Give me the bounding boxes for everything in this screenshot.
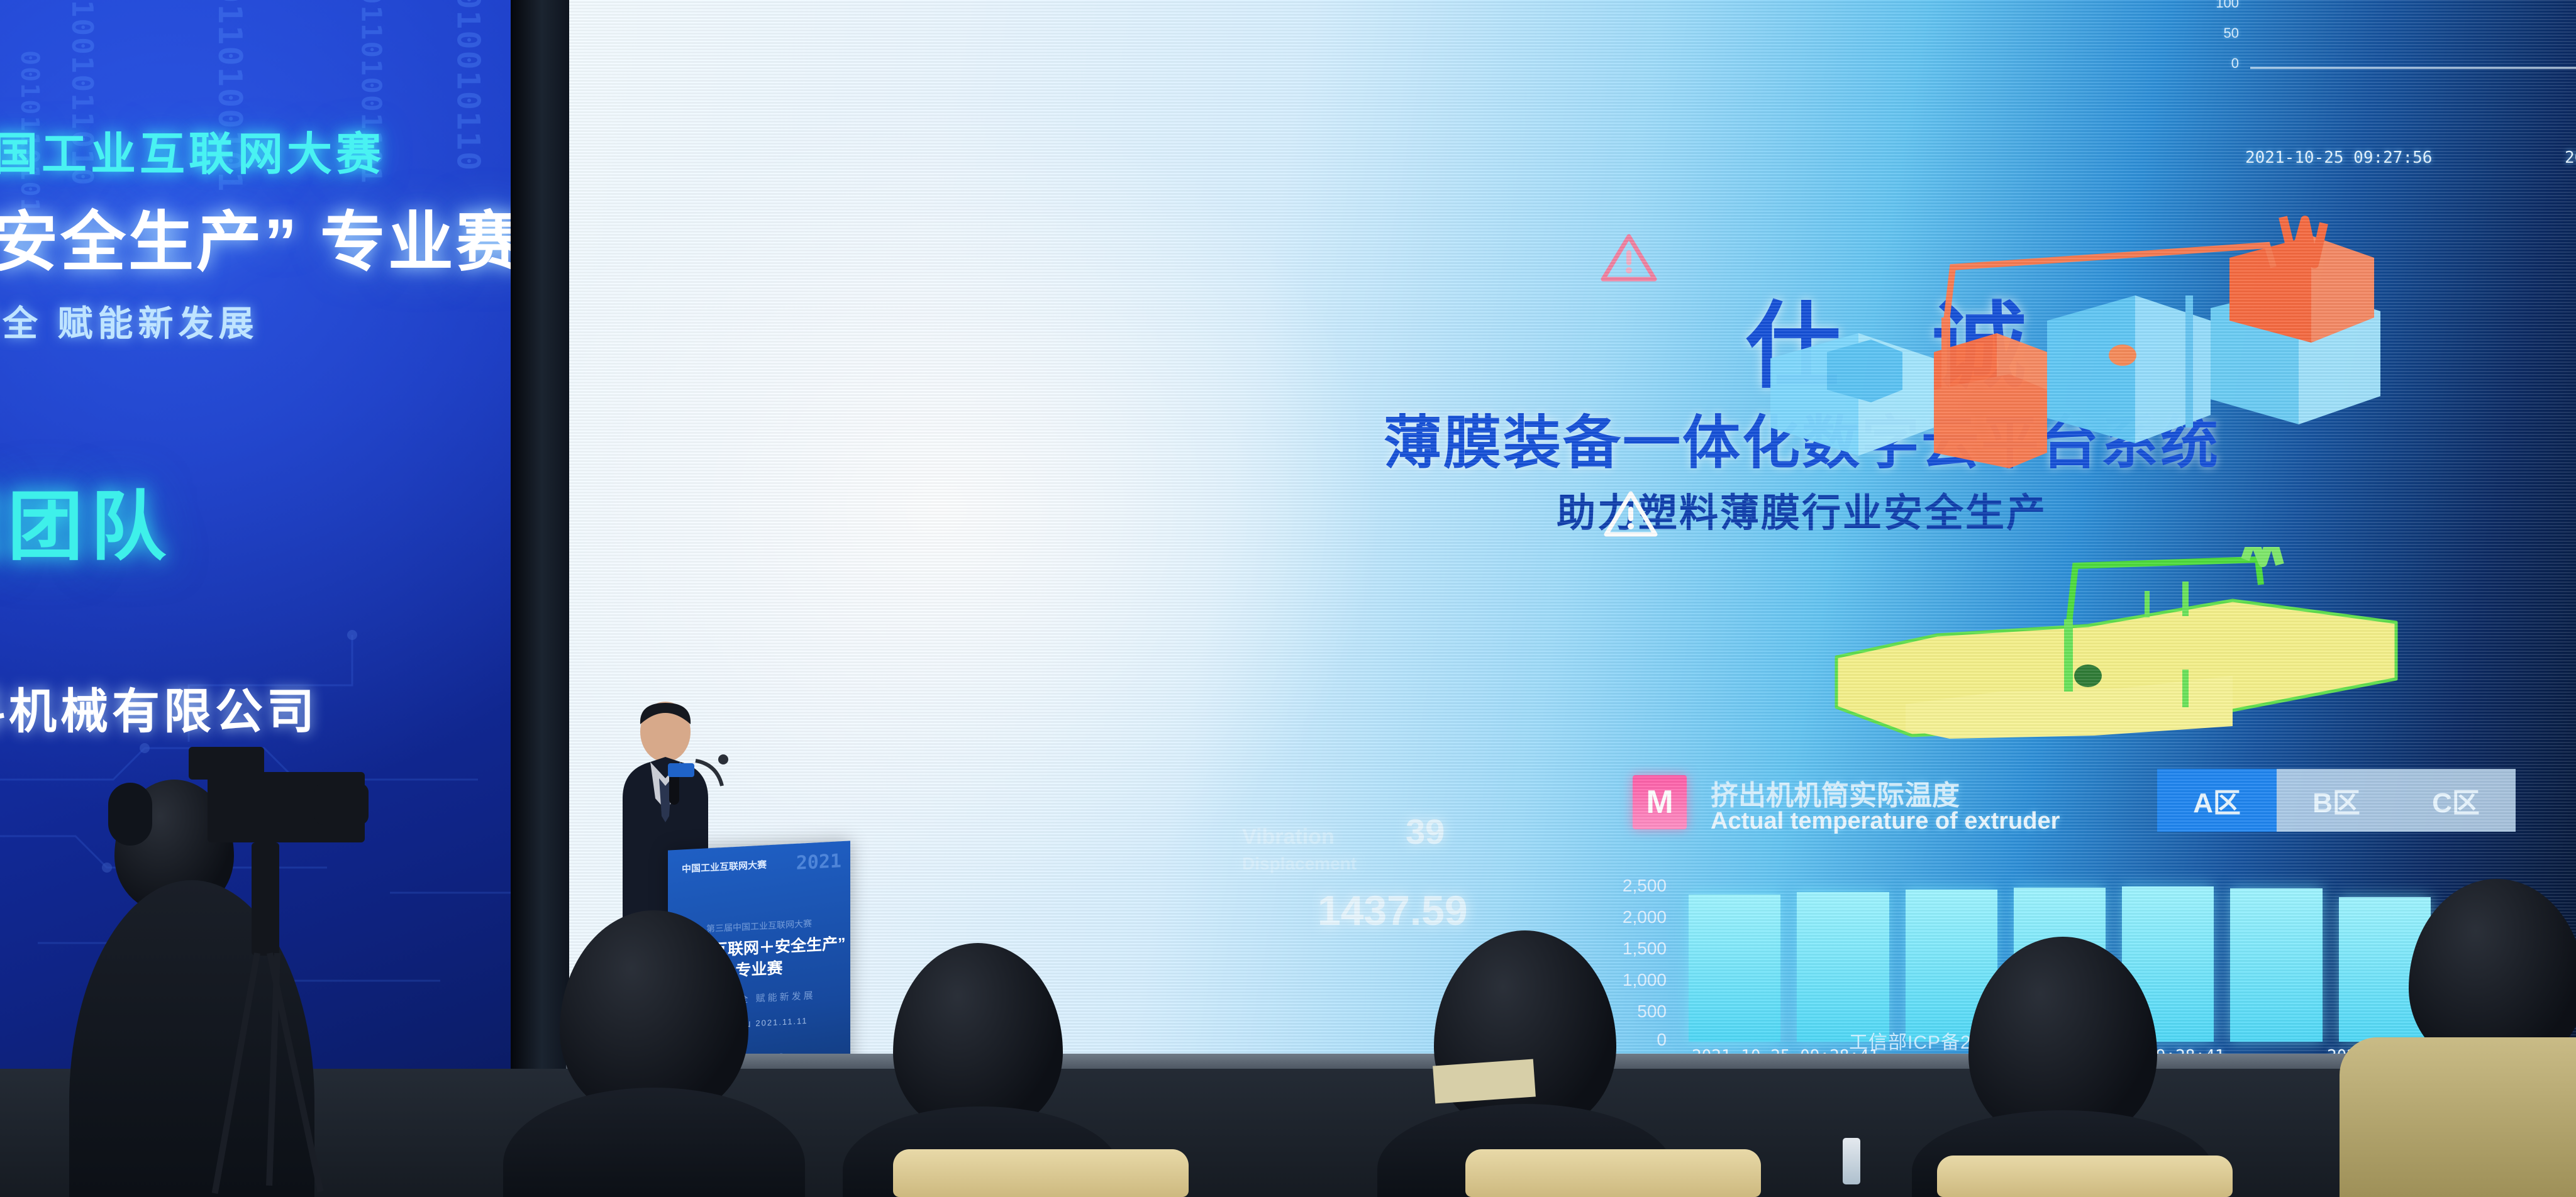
ghost-metric-displacement-value: 1437.59 (1318, 886, 1468, 934)
ghost-metric-vibration-label: Vibration (1242, 825, 1335, 849)
banner-company-name: 塑料机械有限公司 (0, 673, 566, 742)
headphone-icon (108, 783, 152, 846)
water-bottle (1843, 1138, 1860, 1184)
line-ytick-0: 0 (2201, 55, 2239, 72)
zone-tab-c[interactable]: C区 (2396, 769, 2516, 832)
zone-tab-a[interactable]: A区 (2157, 769, 2277, 832)
bar-ytick-2500: 2,500 (1597, 876, 1667, 896)
chair-back-1 (893, 1149, 1189, 1197)
extruder-line-3d-model (1745, 201, 2412, 490)
ghost-metric-displacement-label: Displacement (1242, 854, 1357, 874)
camera-viewfinder (189, 747, 264, 780)
banner-competition-title: 中国工业互联网大赛 (0, 117, 566, 183)
bar-ytick-1000: 1,000 (1597, 970, 1667, 990)
line-xtick-2: 2021-10-25 09:28:16 (2565, 148, 2576, 167)
camera-pan-head (252, 842, 279, 956)
banner-slogan: 安全 赋能新发展 (0, 295, 566, 346)
metric-badge: M (1633, 775, 1687, 829)
bar-6 (2230, 888, 2322, 1042)
left-led-banner: 01001011010 10110100101 01101001101 1101… (0, 0, 566, 1119)
podium-logo-text: 中国工业互联网大赛 (682, 858, 767, 875)
zone-tab-b[interactable]: B区 (2277, 769, 2396, 832)
projection-screen: 仕 诚 薄膜装备一体化数字云平台系统 助力塑料薄膜行业安全生产 39 1437.… (569, 0, 2576, 1056)
line-xtick-1: 2021-10-25 09:27:56 (2245, 148, 2432, 167)
ghost-metric-vibration-value: 39 (1406, 811, 1445, 852)
bar-1 (1689, 895, 1780, 1042)
camera-lens-hood (314, 783, 369, 825)
bar-2 (1797, 892, 1889, 1042)
bar-chart-title-en: Actual temperature of extruder (1711, 808, 2060, 835)
line-chart: 250 200 150 100 50 0 2021-10-25 09:27:56… (2176, 0, 2576, 163)
chair-back-3 (1937, 1156, 2233, 1197)
line-ytick-50: 50 (2201, 25, 2239, 41)
bar-ytick-1500: 1,500 (1597, 939, 1667, 959)
paper-sheet (1433, 1059, 1536, 1103)
podium-year: 2021 (796, 850, 841, 874)
line-ytick-100: 100 (2201, 0, 2239, 11)
bar-chart-title-zh: 挤出机机筒实际温度 (1711, 773, 1960, 813)
film-machine-3d-model (1792, 547, 2459, 767)
zone-tab-group[interactable]: A区 B区 C区 (2157, 769, 2516, 832)
audience-shoulders-5 (2340, 1037, 2576, 1197)
chair-back-2 (1465, 1149, 1761, 1197)
banner-team-name: 诚团队 (0, 465, 566, 575)
bar-ytick-2000: 2,000 (1597, 907, 1667, 927)
line-chart-plot (2250, 0, 2576, 82)
banner-track-title: ＋安全生产” 专业赛 (0, 189, 566, 284)
conference-scene: 01001011010 10110100101 01101001101 1101… (0, 0, 2576, 1197)
